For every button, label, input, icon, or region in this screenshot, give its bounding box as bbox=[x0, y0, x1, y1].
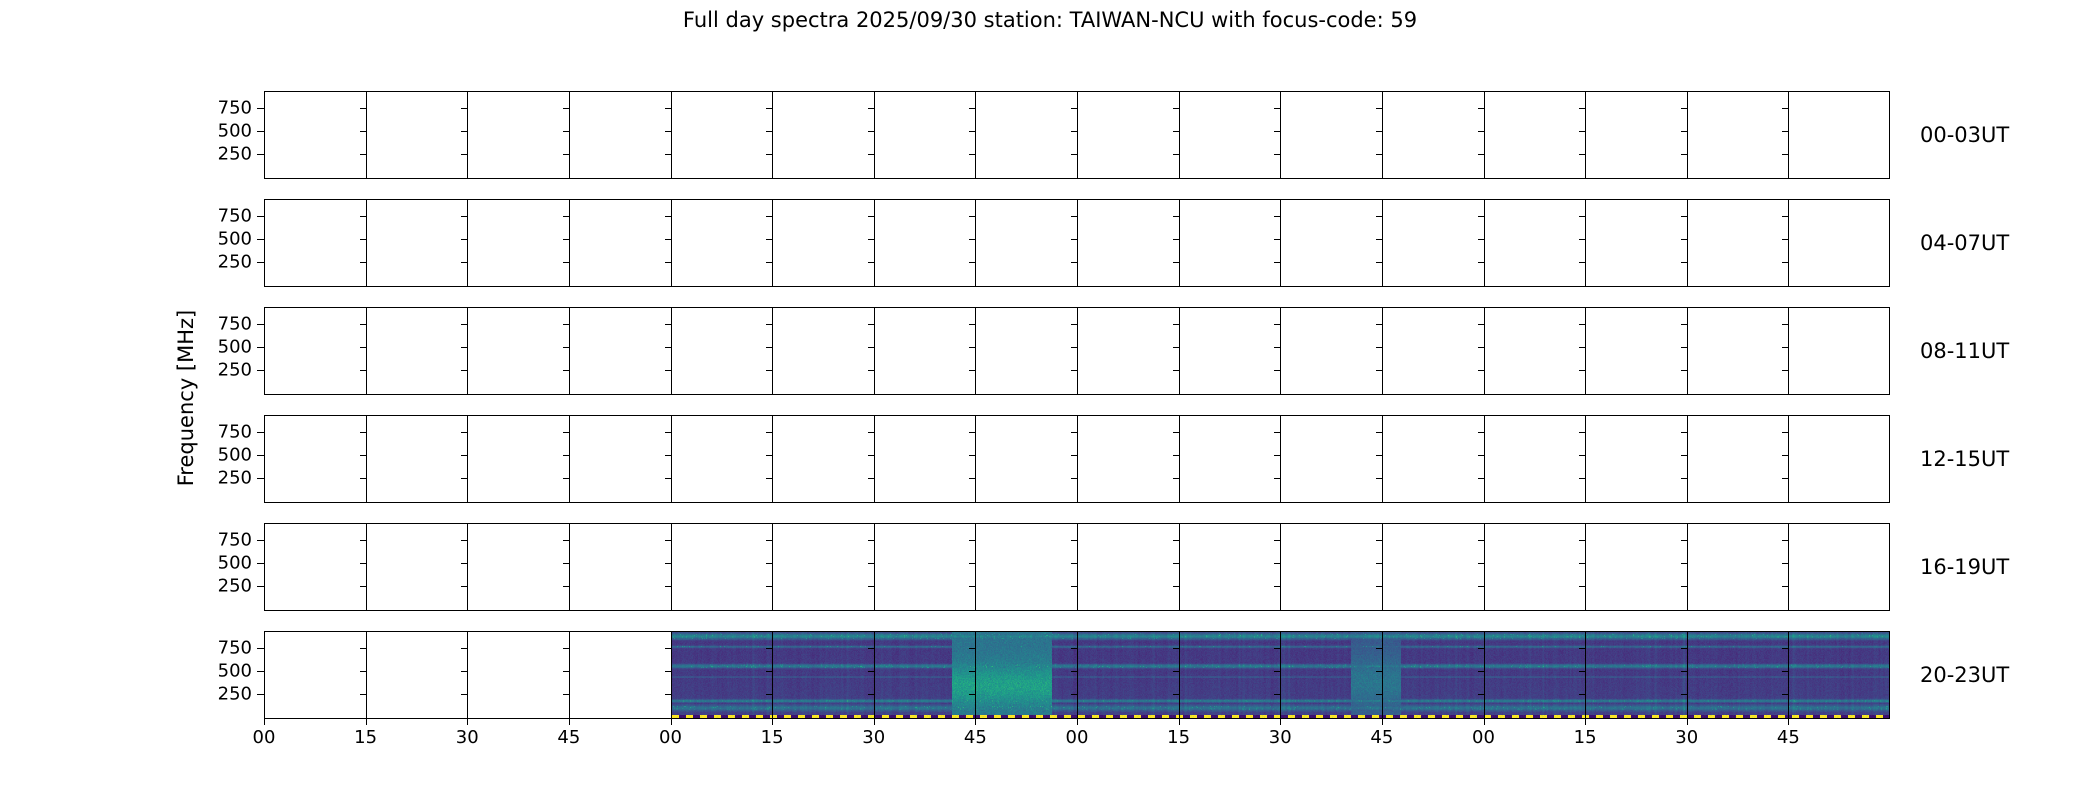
subpanel-separator bbox=[1382, 307, 1383, 395]
y-tick-mark-inner bbox=[868, 108, 874, 109]
row-time-label-04-07ut: 04-07UT bbox=[1920, 231, 2009, 255]
y-tick-mark-inner bbox=[1782, 694, 1788, 695]
y-tick-mark-inner bbox=[1376, 131, 1382, 132]
y-tick-mark-inner bbox=[461, 370, 467, 371]
subpanel-separator bbox=[1077, 91, 1078, 179]
y-tick-mark bbox=[257, 540, 264, 541]
y-tick-mark-inner bbox=[1071, 108, 1077, 109]
y-tick-mark-inner bbox=[360, 370, 366, 371]
subpanel-separator bbox=[1382, 199, 1383, 287]
y-tick-label: 250 bbox=[204, 575, 252, 596]
subpanel-separator bbox=[1280, 523, 1281, 611]
y-tick-mark-inner bbox=[1274, 586, 1280, 587]
row-time-label-20-23ut: 20-23UT bbox=[1920, 663, 2009, 687]
subpanel-separator bbox=[1687, 523, 1688, 611]
y-tick-mark-inner bbox=[969, 586, 975, 587]
y-tick-mark-inner bbox=[1071, 563, 1077, 564]
x-tick-mark bbox=[1484, 719, 1485, 725]
y-tick-mark bbox=[257, 432, 264, 433]
y-tick-mark-inner bbox=[665, 648, 671, 649]
x-tick-mark bbox=[772, 719, 773, 725]
y-tick-mark-inner bbox=[1478, 262, 1484, 263]
y-tick-mark-inner bbox=[360, 154, 366, 155]
y-tick-mark-inner bbox=[665, 216, 671, 217]
y-tick-mark-inner bbox=[766, 586, 772, 587]
y-tick-mark bbox=[257, 370, 264, 371]
subpanel-separator bbox=[1077, 307, 1078, 395]
y-tick-mark-inner bbox=[766, 131, 772, 132]
x-tick-label: 45 bbox=[1370, 727, 1393, 748]
subpanel-separator bbox=[975, 631, 976, 719]
y-tick-mark-inner bbox=[1376, 347, 1382, 348]
subpanel-separator bbox=[874, 415, 875, 503]
y-tick-mark-inner bbox=[461, 131, 467, 132]
y-tick-mark-inner bbox=[1478, 370, 1484, 371]
y-tick-mark-inner bbox=[1173, 131, 1179, 132]
y-tick-mark-inner bbox=[1782, 239, 1788, 240]
y-tick-mark-inner bbox=[1274, 540, 1280, 541]
y-tick-mark-inner bbox=[1274, 478, 1280, 479]
subpanel-separator bbox=[772, 415, 773, 503]
subpanel-separator bbox=[1077, 199, 1078, 287]
y-tick-mark-inner bbox=[1782, 324, 1788, 325]
subpanel-separator bbox=[1280, 415, 1281, 503]
y-tick-mark-inner bbox=[1579, 347, 1585, 348]
y-tick-mark-inner bbox=[766, 648, 772, 649]
y-tick-label: 250 bbox=[204, 467, 252, 488]
y-tick-mark-inner bbox=[461, 239, 467, 240]
subpanel-separator bbox=[1179, 631, 1180, 719]
y-tick-mark-inner bbox=[563, 347, 569, 348]
y-tick-mark-inner bbox=[563, 239, 569, 240]
y-tick-mark-inner bbox=[969, 563, 975, 564]
y-tick-mark-inner bbox=[563, 432, 569, 433]
subpanel-separator bbox=[1077, 523, 1078, 611]
y-tick-mark-inner bbox=[969, 671, 975, 672]
y-tick-mark-inner bbox=[766, 671, 772, 672]
y-tick-mark-inner bbox=[360, 324, 366, 325]
y-tick-label: 750 bbox=[204, 530, 252, 551]
y-tick-mark-inner bbox=[1579, 154, 1585, 155]
y-tick-mark-inner bbox=[1173, 108, 1179, 109]
panel-row-08-11ut[interactable] bbox=[264, 307, 1890, 395]
y-tick-mark-inner bbox=[1681, 262, 1687, 263]
y-tick-label: 750 bbox=[204, 98, 252, 119]
y-tick-mark-inner bbox=[1782, 108, 1788, 109]
y-tick-mark-inner bbox=[665, 370, 671, 371]
y-tick-mark-inner bbox=[969, 694, 975, 695]
subpanel-separator bbox=[671, 91, 672, 179]
y-tick-mark-inner bbox=[1478, 478, 1484, 479]
y-tick-mark-inner bbox=[1782, 154, 1788, 155]
y-tick-mark-inner bbox=[766, 694, 772, 695]
y-tick-mark-inner bbox=[563, 154, 569, 155]
x-tick-mark bbox=[1687, 719, 1688, 725]
x-tick-mark bbox=[874, 719, 875, 725]
y-tick-mark-inner bbox=[1173, 370, 1179, 371]
y-tick-mark bbox=[257, 671, 264, 672]
x-tick-mark bbox=[1382, 719, 1383, 725]
x-tick-label: 15 bbox=[354, 727, 377, 748]
y-tick-mark-inner bbox=[1376, 455, 1382, 456]
y-tick-mark-inner bbox=[1579, 216, 1585, 217]
y-tick-mark bbox=[257, 586, 264, 587]
y-tick-mark-inner bbox=[1274, 347, 1280, 348]
y-tick-mark-inner bbox=[1274, 262, 1280, 263]
y-tick-mark-inner bbox=[1478, 239, 1484, 240]
y-tick-mark-inner bbox=[1782, 648, 1788, 649]
y-tick-mark-inner bbox=[563, 455, 569, 456]
subpanel-separator bbox=[467, 415, 468, 503]
y-tick-mark-inner bbox=[1173, 262, 1179, 263]
y-tick-mark-inner bbox=[1071, 347, 1077, 348]
x-tick-label: 00 bbox=[659, 727, 682, 748]
x-tick-mark bbox=[1077, 719, 1078, 725]
y-tick-mark-inner bbox=[1782, 262, 1788, 263]
y-tick-mark-inner bbox=[1274, 154, 1280, 155]
y-tick-mark-inner bbox=[969, 324, 975, 325]
y-tick-mark-inner bbox=[1071, 154, 1077, 155]
y-tick-mark-inner bbox=[1376, 671, 1382, 672]
x-tick-mark bbox=[975, 719, 976, 725]
y-tick-mark-inner bbox=[1782, 455, 1788, 456]
y-tick-mark-inner bbox=[1376, 478, 1382, 479]
y-tick-mark-inner bbox=[868, 239, 874, 240]
x-tick-label: 15 bbox=[761, 727, 784, 748]
x-tick-label: 45 bbox=[964, 727, 987, 748]
row-time-label-08-11ut: 08-11UT bbox=[1920, 339, 2009, 363]
y-tick-label: 750 bbox=[204, 638, 252, 659]
subpanel-separator bbox=[1382, 523, 1383, 611]
y-tick-mark-inner bbox=[868, 671, 874, 672]
y-tick-mark-inner bbox=[360, 131, 366, 132]
y-tick-mark-inner bbox=[1071, 216, 1077, 217]
y-tick-mark-inner bbox=[1579, 540, 1585, 541]
y-tick-mark-inner bbox=[969, 131, 975, 132]
subpanel-separator bbox=[366, 523, 367, 611]
y-tick-mark-inner bbox=[969, 239, 975, 240]
y-tick-mark-inner bbox=[360, 108, 366, 109]
subpanel-separator bbox=[975, 523, 976, 611]
y-tick-mark-inner bbox=[360, 432, 366, 433]
subpanel-separator bbox=[1585, 631, 1586, 719]
y-tick-mark-inner bbox=[461, 540, 467, 541]
y-tick-mark-inner bbox=[766, 239, 772, 240]
y-tick-label: 250 bbox=[204, 143, 252, 164]
subpanel-separator bbox=[467, 199, 468, 287]
y-tick-mark-inner bbox=[1274, 216, 1280, 217]
y-tick-mark bbox=[257, 262, 264, 263]
y-tick-mark-inner bbox=[1071, 671, 1077, 672]
y-tick-mark-inner bbox=[1274, 324, 1280, 325]
y-tick-mark-inner bbox=[868, 478, 874, 479]
y-tick-mark-inner bbox=[665, 324, 671, 325]
y-tick-mark-inner bbox=[563, 648, 569, 649]
x-axis: 00153045001530450015304500153045 bbox=[264, 719, 1890, 759]
y-tick-mark-inner bbox=[360, 694, 366, 695]
y-tick-label: 750 bbox=[204, 314, 252, 335]
y-tick-mark-inner bbox=[461, 648, 467, 649]
subpanel-separator bbox=[366, 199, 367, 287]
y-tick-mark-inner bbox=[868, 563, 874, 564]
y-tick-mark-inner bbox=[1274, 131, 1280, 132]
y-tick-mark-inner bbox=[1376, 694, 1382, 695]
y-tick-mark-inner bbox=[1274, 455, 1280, 456]
x-tick-label: 30 bbox=[456, 727, 479, 748]
y-tick-mark-inner bbox=[1071, 478, 1077, 479]
y-tick-mark-inner bbox=[1681, 324, 1687, 325]
y-tick-mark-inner bbox=[461, 455, 467, 456]
y-tick-mark-inner bbox=[1579, 694, 1585, 695]
y-tick-mark-inner bbox=[665, 478, 671, 479]
x-tick-mark bbox=[467, 719, 468, 725]
y-tick-mark-inner bbox=[461, 478, 467, 479]
subpanel-separator bbox=[874, 523, 875, 611]
subpanel-separator bbox=[1687, 307, 1688, 395]
subpanel-separator bbox=[1382, 91, 1383, 179]
y-tick-mark-inner bbox=[868, 432, 874, 433]
subpanel-separator bbox=[772, 91, 773, 179]
y-tick-mark-inner bbox=[563, 694, 569, 695]
y-tick-mark-inner bbox=[1376, 432, 1382, 433]
subpanel-separator bbox=[1585, 199, 1586, 287]
subpanel-separator bbox=[1179, 523, 1180, 611]
y-tick-mark-inner bbox=[1579, 108, 1585, 109]
y-tick-mark-inner bbox=[563, 540, 569, 541]
y-tick-mark-inner bbox=[1782, 586, 1788, 587]
y-tick-mark-inner bbox=[969, 347, 975, 348]
y-tick-mark-inner bbox=[868, 370, 874, 371]
y-tick-label: 750 bbox=[204, 206, 252, 227]
y-tick-mark-inner bbox=[969, 478, 975, 479]
subpanel-separator bbox=[1484, 631, 1485, 719]
y-tick-mark-inner bbox=[868, 694, 874, 695]
y-tick-mark-inner bbox=[1274, 239, 1280, 240]
subpanel-separator bbox=[874, 91, 875, 179]
y-tick-mark-inner bbox=[461, 324, 467, 325]
subpanel-separator bbox=[874, 307, 875, 395]
y-tick-mark-inner bbox=[665, 671, 671, 672]
y-tick-mark-inner bbox=[665, 586, 671, 587]
y-tick-mark-inner bbox=[1681, 347, 1687, 348]
y-tick-mark-inner bbox=[665, 262, 671, 263]
y-tick-mark bbox=[257, 324, 264, 325]
y-tick-mark-inner bbox=[1173, 540, 1179, 541]
subpanel-separator bbox=[975, 199, 976, 287]
y-tick-mark-inner bbox=[360, 347, 366, 348]
figure-title: Full day spectra 2025/09/30 station: TAI… bbox=[0, 8, 2100, 32]
y-tick-mark-inner bbox=[563, 671, 569, 672]
y-tick-mark-inner bbox=[461, 671, 467, 672]
subpanel-separator bbox=[366, 91, 367, 179]
y-tick-mark-inner bbox=[1376, 563, 1382, 564]
subpanel-separator bbox=[569, 307, 570, 395]
y-tick-mark-inner bbox=[766, 154, 772, 155]
y-tick-mark-inner bbox=[766, 540, 772, 541]
subpanel-separator bbox=[772, 631, 773, 719]
y-tick-mark-inner bbox=[1681, 671, 1687, 672]
y-tick-mark-inner bbox=[1071, 324, 1077, 325]
y-tick-mark-inner bbox=[1274, 108, 1280, 109]
y-tick-mark-inner bbox=[1376, 586, 1382, 587]
y-tick-mark-inner bbox=[766, 432, 772, 433]
y-tick-mark-inner bbox=[1579, 455, 1585, 456]
y-tick-mark-inner bbox=[461, 216, 467, 217]
y-tick-mark-inner bbox=[360, 671, 366, 672]
y-tick-mark-inner bbox=[969, 455, 975, 456]
y-tick-mark-inner bbox=[461, 347, 467, 348]
y-tick-mark-inner bbox=[766, 347, 772, 348]
y-tick-mark-inner bbox=[665, 563, 671, 564]
y-tick-mark-inner bbox=[1681, 563, 1687, 564]
subpanel-separator bbox=[1585, 523, 1586, 611]
y-tick-mark-inner bbox=[665, 347, 671, 348]
subpanel-separator bbox=[1585, 307, 1586, 395]
y-tick-mark-inner bbox=[665, 131, 671, 132]
y-tick-mark-inner bbox=[1274, 648, 1280, 649]
y-tick-mark-inner bbox=[1274, 694, 1280, 695]
y-tick-mark-inner bbox=[969, 648, 975, 649]
subpanel-separator bbox=[975, 415, 976, 503]
subpanel-separator bbox=[569, 523, 570, 611]
subpanel-separator bbox=[772, 199, 773, 287]
y-tick-mark-inner bbox=[665, 432, 671, 433]
subpanel-separator bbox=[874, 631, 875, 719]
x-tick-mark bbox=[1280, 719, 1281, 725]
y-tick-mark bbox=[257, 131, 264, 132]
row-time-label-12-15ut: 12-15UT bbox=[1920, 447, 2009, 471]
y-tick-mark-inner bbox=[1782, 671, 1788, 672]
panel-row-20-23ut[interactable] bbox=[264, 631, 1890, 719]
subpanel-separator bbox=[467, 91, 468, 179]
subpanel-separator bbox=[1788, 307, 1789, 395]
subpanel-separator bbox=[1484, 415, 1485, 503]
subpanel-separator bbox=[467, 523, 468, 611]
subpanel-separator bbox=[569, 415, 570, 503]
subpanel-separator bbox=[1484, 523, 1485, 611]
subpanel-separator bbox=[467, 631, 468, 719]
y-tick-mark-inner bbox=[969, 540, 975, 541]
panel-row-12-15ut[interactable] bbox=[264, 415, 1890, 503]
x-tick-mark bbox=[671, 719, 672, 725]
subpanel-separator bbox=[1687, 91, 1688, 179]
x-tick-label: 00 bbox=[1066, 727, 1089, 748]
subpanel-separator bbox=[1585, 91, 1586, 179]
subpanel-separator bbox=[1280, 307, 1281, 395]
x-tick-mark bbox=[1585, 719, 1586, 725]
y-tick-mark-inner bbox=[1173, 671, 1179, 672]
y-tick-mark-inner bbox=[1782, 540, 1788, 541]
y-tick-mark-inner bbox=[766, 262, 772, 263]
y-tick-mark-inner bbox=[766, 108, 772, 109]
y-tick-mark-inner bbox=[766, 478, 772, 479]
y-tick-mark-inner bbox=[360, 563, 366, 564]
subpanel-separator bbox=[1179, 199, 1180, 287]
y-tick-mark-inner bbox=[1071, 540, 1077, 541]
y-tick-mark-inner bbox=[1478, 108, 1484, 109]
y-tick-mark bbox=[257, 563, 264, 564]
y-tick-mark-inner bbox=[1376, 648, 1382, 649]
y-tick-mark-inner bbox=[1681, 108, 1687, 109]
x-tick-label: 15 bbox=[1574, 727, 1597, 748]
y-tick-mark-inner bbox=[461, 694, 467, 695]
y-tick-mark-inner bbox=[665, 455, 671, 456]
subpanel-separator bbox=[1687, 631, 1688, 719]
y-tick-mark-inner bbox=[868, 324, 874, 325]
y-tick-mark-inner bbox=[1681, 239, 1687, 240]
subpanel-separator bbox=[1484, 91, 1485, 179]
y-tick-mark-inner bbox=[868, 154, 874, 155]
y-tick-mark-inner bbox=[1173, 432, 1179, 433]
subpanel-separator bbox=[1077, 631, 1078, 719]
panel-row-00-03ut[interactable] bbox=[264, 91, 1890, 179]
y-tick-mark-inner bbox=[1173, 648, 1179, 649]
x-tick-label: 45 bbox=[557, 727, 580, 748]
y-tick-mark-inner bbox=[868, 586, 874, 587]
y-tick-mark-inner bbox=[461, 432, 467, 433]
y-tick-mark-inner bbox=[1071, 239, 1077, 240]
y-tick-mark-inner bbox=[1478, 216, 1484, 217]
y-tick-label: 500 bbox=[204, 661, 252, 682]
y-tick-mark-inner bbox=[1478, 154, 1484, 155]
subpanel-separator bbox=[975, 91, 976, 179]
y-tick-mark-inner bbox=[1173, 563, 1179, 564]
y-tick-mark-inner bbox=[1071, 131, 1077, 132]
y-tick-mark-inner bbox=[1681, 694, 1687, 695]
y-tick-mark-inner bbox=[1376, 324, 1382, 325]
y-tick-label: 500 bbox=[204, 445, 252, 466]
y-tick-mark-inner bbox=[563, 262, 569, 263]
y-tick-mark-inner bbox=[1579, 586, 1585, 587]
y-tick-mark-inner bbox=[360, 540, 366, 541]
y-tick-mark-inner bbox=[461, 262, 467, 263]
subpanel-separator bbox=[1179, 307, 1180, 395]
y-tick-mark-inner bbox=[1274, 671, 1280, 672]
y-tick-mark-inner bbox=[1173, 347, 1179, 348]
y-tick-mark-inner bbox=[1376, 262, 1382, 263]
y-tick-mark-inner bbox=[1579, 262, 1585, 263]
y-tick-mark-inner bbox=[766, 370, 772, 371]
y-tick-mark-inner bbox=[1173, 216, 1179, 217]
x-tick-mark bbox=[366, 719, 367, 725]
subpanel-separator bbox=[1788, 415, 1789, 503]
y-tick-mark-inner bbox=[766, 455, 772, 456]
subpanel-separator bbox=[569, 91, 570, 179]
panel-row-04-07ut[interactable] bbox=[264, 199, 1890, 287]
y-tick-mark-inner bbox=[1071, 586, 1077, 587]
y-tick-mark-inner bbox=[1071, 694, 1077, 695]
panel-row-16-19ut[interactable] bbox=[264, 523, 1890, 611]
subpanel-separator bbox=[671, 631, 672, 719]
y-tick-mark-inner bbox=[1478, 540, 1484, 541]
subpanel-separator bbox=[975, 307, 976, 395]
y-tick-mark-inner bbox=[1579, 131, 1585, 132]
y-tick-mark-inner bbox=[1478, 347, 1484, 348]
y-tick-mark-inner bbox=[1376, 239, 1382, 240]
y-tick-mark-inner bbox=[1782, 563, 1788, 564]
subpanel-separator bbox=[1077, 415, 1078, 503]
y-tick-mark-inner bbox=[868, 262, 874, 263]
y-tick-mark-inner bbox=[1782, 216, 1788, 217]
y-tick-mark-inner bbox=[1681, 154, 1687, 155]
y-tick-label: 750 bbox=[204, 422, 252, 443]
y-tick-mark-inner bbox=[1579, 370, 1585, 371]
x-tick-label: 30 bbox=[1675, 727, 1698, 748]
y-tick-label: 250 bbox=[204, 359, 252, 380]
y-tick-mark-inner bbox=[461, 586, 467, 587]
y-tick-mark-inner bbox=[1579, 563, 1585, 564]
x-tick-mark bbox=[569, 719, 570, 725]
